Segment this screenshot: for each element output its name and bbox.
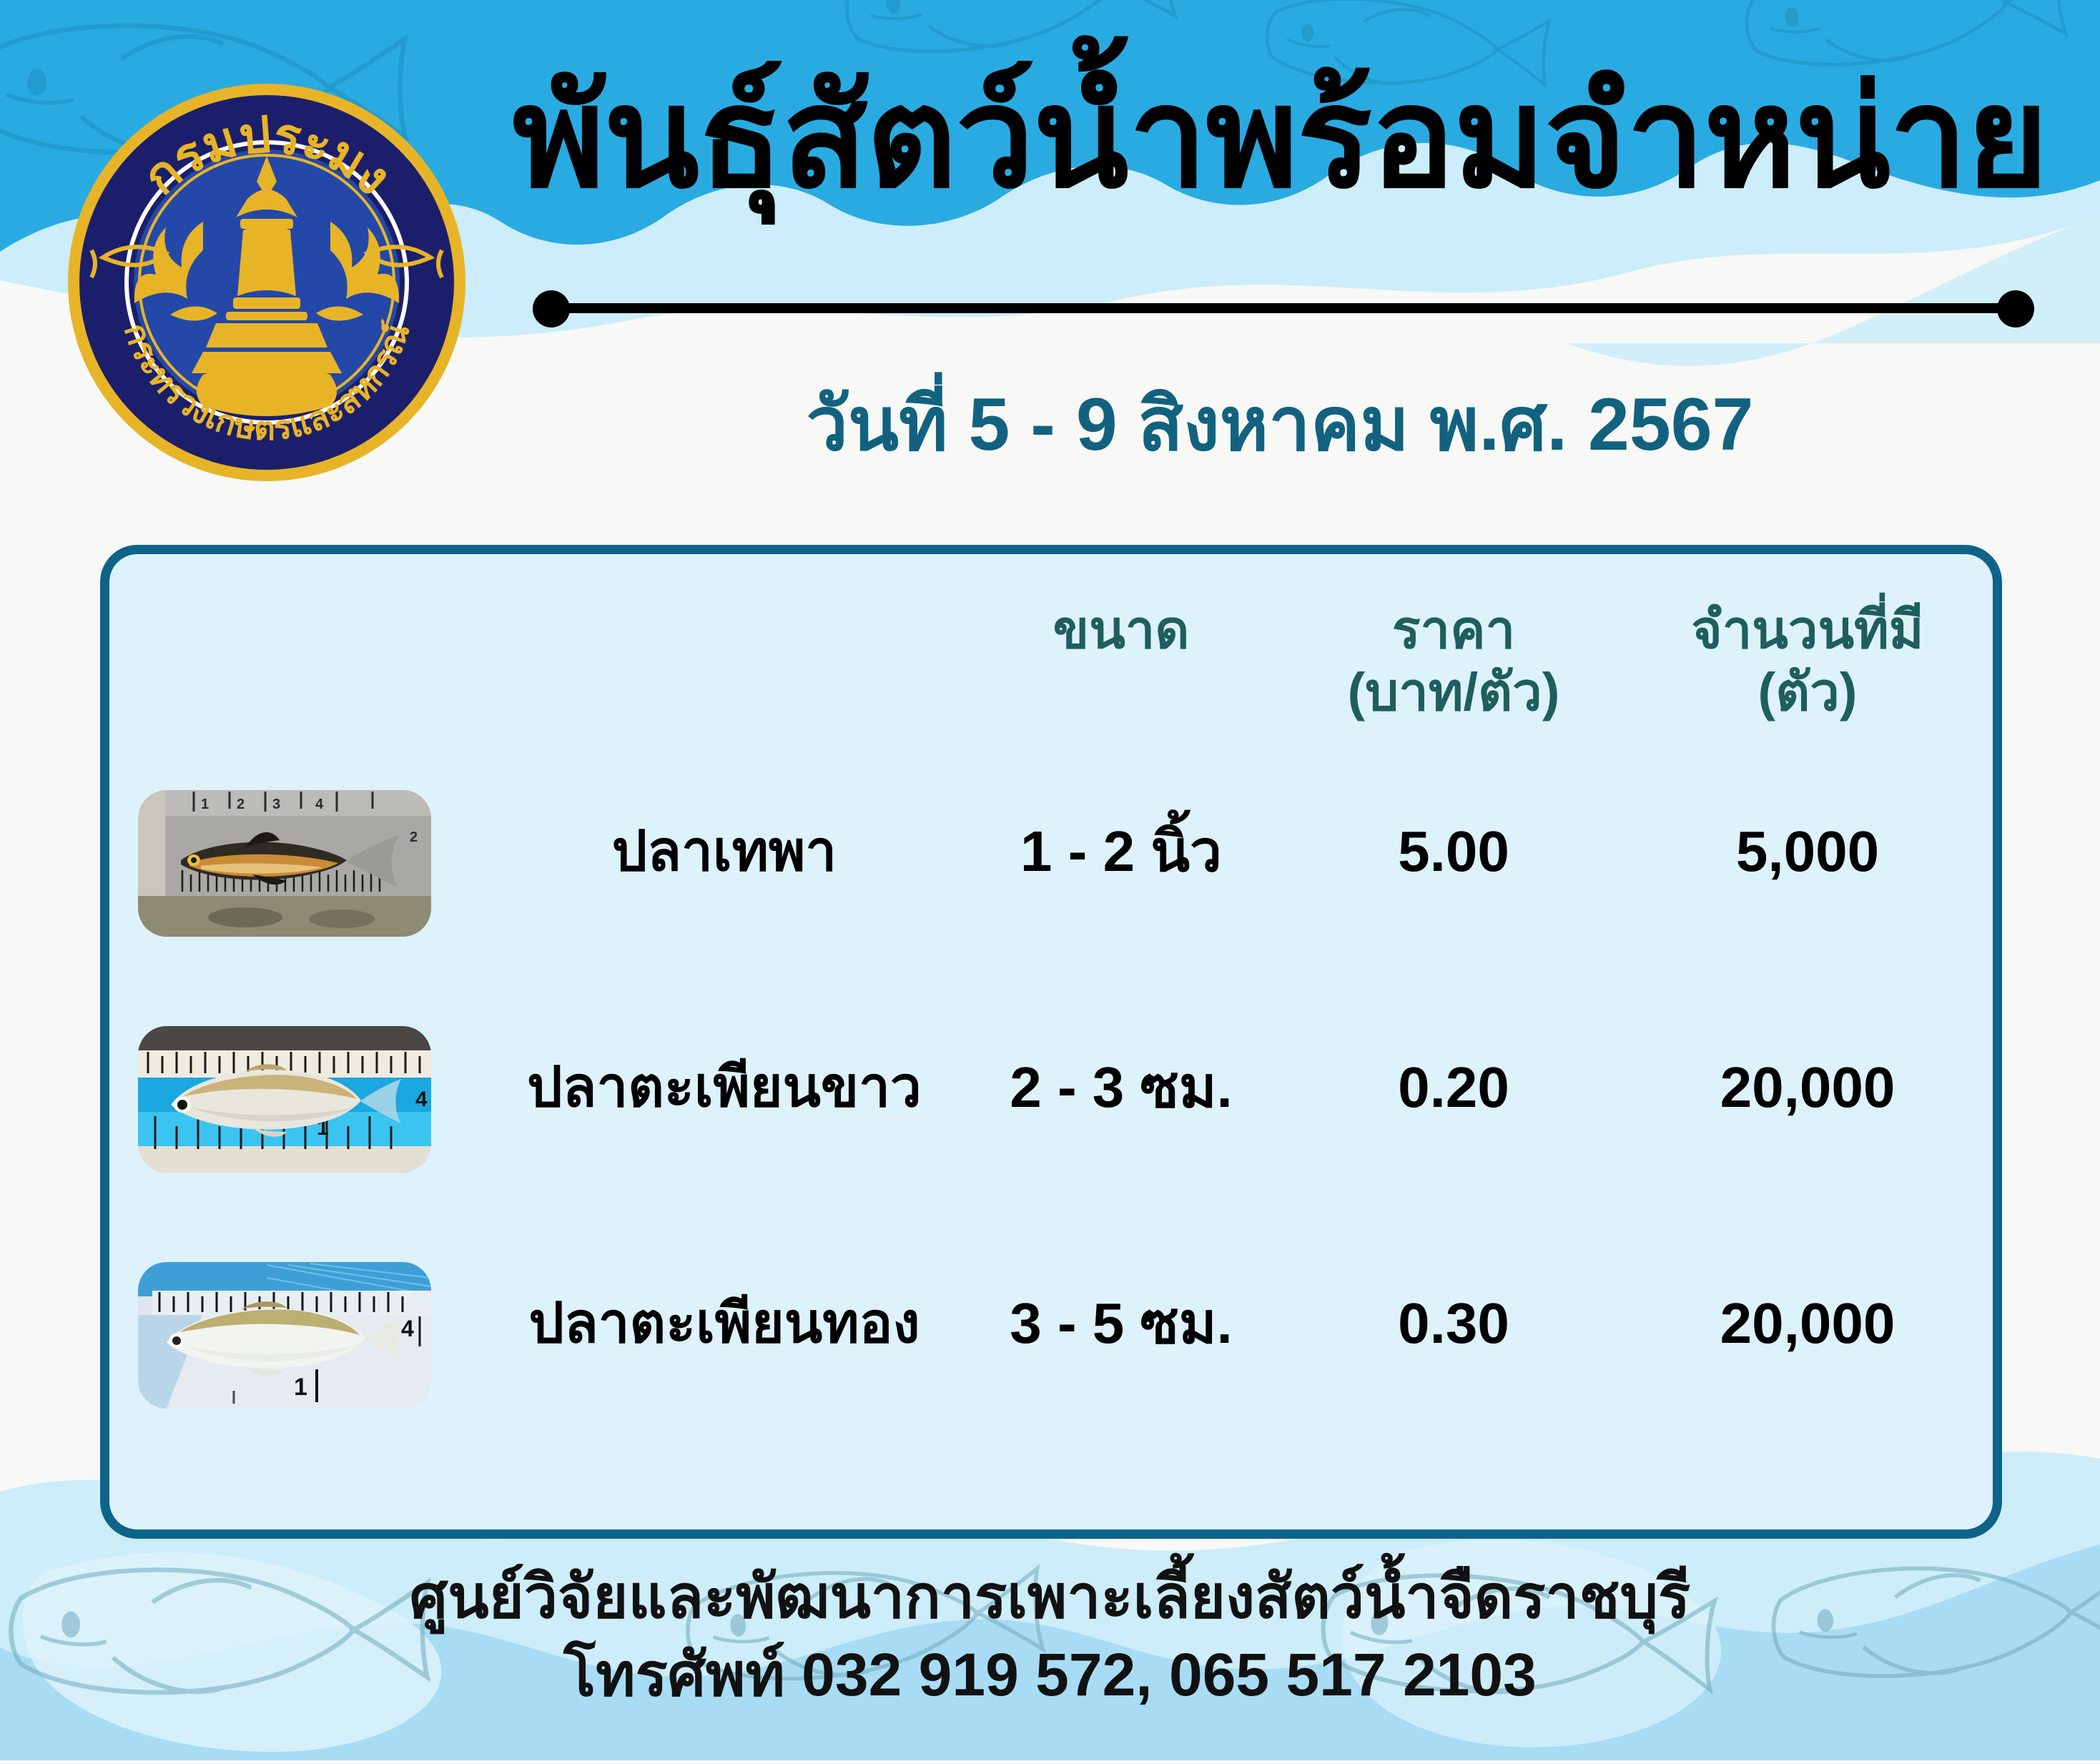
svg-text:2: 2 bbox=[237, 797, 245, 812]
column-header-quantity-line2: (ตัว) bbox=[1629, 661, 1986, 723]
svg-text:2: 2 bbox=[410, 829, 418, 845]
stock-table-card: ขนาด ราคา (บาท/ตัว) จำนวนที่มี (ตัว) bbox=[100, 545, 2002, 1539]
species-size: 2 - 3 ซม. bbox=[967, 1059, 1275, 1116]
telephone-line: โทรศัพท์ 032 919 572, 065 517 2103 bbox=[0, 1640, 2100, 1710]
column-header-price: ราคา (บาท/ตัว) bbox=[1275, 598, 1632, 724]
column-header-price-line1: ราคา bbox=[1275, 598, 1632, 661]
species-name: ปลาเทพา bbox=[481, 823, 967, 879]
table-row: 12 34 2 bbox=[109, 790, 1993, 980]
svg-text:3: 3 bbox=[272, 797, 280, 812]
column-header-quantity: จำนวนที่มี (ตัว) bbox=[1629, 598, 1986, 724]
divider-line bbox=[553, 303, 2014, 313]
svg-text:4: 4 bbox=[415, 1088, 428, 1111]
species-price: 5.00 bbox=[1275, 823, 1632, 880]
species-photo: 4 1 bbox=[138, 1262, 431, 1409]
column-header-size: ขนาด bbox=[967, 598, 1275, 661]
column-header-price-line2: (บาท/ตัว) bbox=[1275, 661, 1632, 723]
page-header: กรมประมง กระทรวงเกษตรและสหกรณ์ พันธุ์สัต… bbox=[0, 0, 2100, 543]
svg-text:1: 1 bbox=[201, 797, 209, 812]
table-row: 1 3 4 ปลาตะเพียนขาว 2 - 3 ซม. 0.20 20,00… bbox=[109, 1026, 1993, 1216]
species-price: 0.20 bbox=[1275, 1059, 1632, 1116]
department-of-fisheries-logo: กรมประมง กระทรวงเกษตรและสหกรณ์ bbox=[63, 79, 470, 486]
species-name: ปลาตะเพียนทอง bbox=[481, 1295, 967, 1351]
species-photo: 1 3 4 bbox=[138, 1026, 431, 1173]
species-price: 0.30 bbox=[1275, 1295, 1632, 1352]
page-footer: ศูนย์วิจัยและพัฒนาการเพาะเลี้ยงสัตว์น้ำจ… bbox=[0, 1562, 2100, 1710]
title-block: พันธุ์สัตว์น้ำพร้อมจำหน่าย bbox=[501, 68, 2059, 208]
species-quantity: 20,000 bbox=[1629, 1295, 1986, 1352]
column-header-quantity-line1: จำนวนที่มี bbox=[1629, 598, 1986, 661]
divider-dot-right bbox=[1997, 290, 2034, 327]
date-range: วันที่ 5 - 9 สิงหาคม พ.ศ. 2567 bbox=[501, 365, 2059, 483]
table-row: 4 1 ปลาตะเพียนทอง 3 - 5 ซม. bbox=[109, 1262, 1993, 1452]
species-quantity: 20,000 bbox=[1629, 1059, 1986, 1116]
species-quantity: 5,000 bbox=[1629, 823, 1986, 880]
organization-name: ศูนย์วิจัยและพัฒนาการเพาะเลี้ยงสัตว์น้ำจ… bbox=[0, 1562, 2100, 1632]
title-divider bbox=[533, 286, 2034, 329]
page-title: พันธุ์สัตว์น้ำพร้อมจำหน่าย bbox=[501, 68, 2059, 208]
stock-table: ขนาด ราคา (บาท/ตัว) จำนวนที่มี (ตัว) bbox=[109, 554, 1993, 1529]
species-size: 1 - 2 นิ้ว bbox=[967, 823, 1275, 880]
svg-text:4: 4 bbox=[401, 1316, 414, 1341]
species-size: 3 - 5 ซม. bbox=[967, 1295, 1275, 1352]
svg-text:1: 1 bbox=[294, 1374, 307, 1401]
species-photo: 12 34 2 bbox=[138, 790, 431, 937]
svg-text:4: 4 bbox=[315, 797, 324, 812]
species-name: ปลาตะเพียนขาว bbox=[481, 1059, 967, 1115]
